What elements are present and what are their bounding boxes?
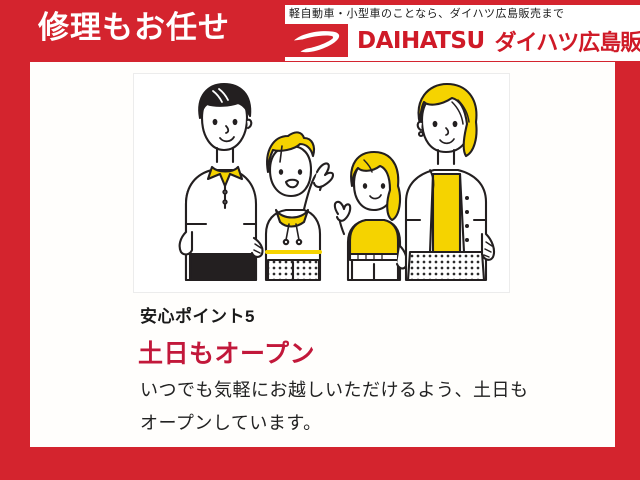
family-illustration <box>133 73 510 293</box>
content-card: 安心ポイント5 土日もオープン いつでも気軽にお越しいただけるよう、土日もオープ… <box>30 62 615 447</box>
family-illustration-svg <box>134 74 509 292</box>
logo-row: DAIHATSU ダイハツ広島販売 <box>285 24 640 57</box>
promo-banner: 修理もお任せ 軽自動車・小型車のことなら、ダイハツ広島販売まで DAIHATSU… <box>0 0 640 480</box>
daihatsu-wordmark: DAIHATSU <box>357 28 485 54</box>
body-text: いつでも気軽にお越しいただけるよう、土日もオープンしています。 <box>140 374 540 440</box>
point-heading: 土日もオープン <box>138 334 315 370</box>
logo-tagline: 軽自動車・小型車のことなら、ダイハツ広島販売まで <box>289 6 564 22</box>
dealer-logo-panel: 軽自動車・小型車のことなら、ダイハツ広島販売まで DAIHATSU ダイハツ広島… <box>285 5 640 61</box>
banner-header: 修理もお任せ 軽自動車・小型車のことなら、ダイハツ広島販売まで DAIHATSU… <box>0 0 640 66</box>
dealer-name: ダイハツ広島販売 <box>495 25 640 57</box>
point-label: 安心ポイント5 <box>140 302 255 327</box>
daihatsu-d-emblem-icon <box>285 24 348 57</box>
page-title: 修理もお任せ <box>38 8 230 48</box>
